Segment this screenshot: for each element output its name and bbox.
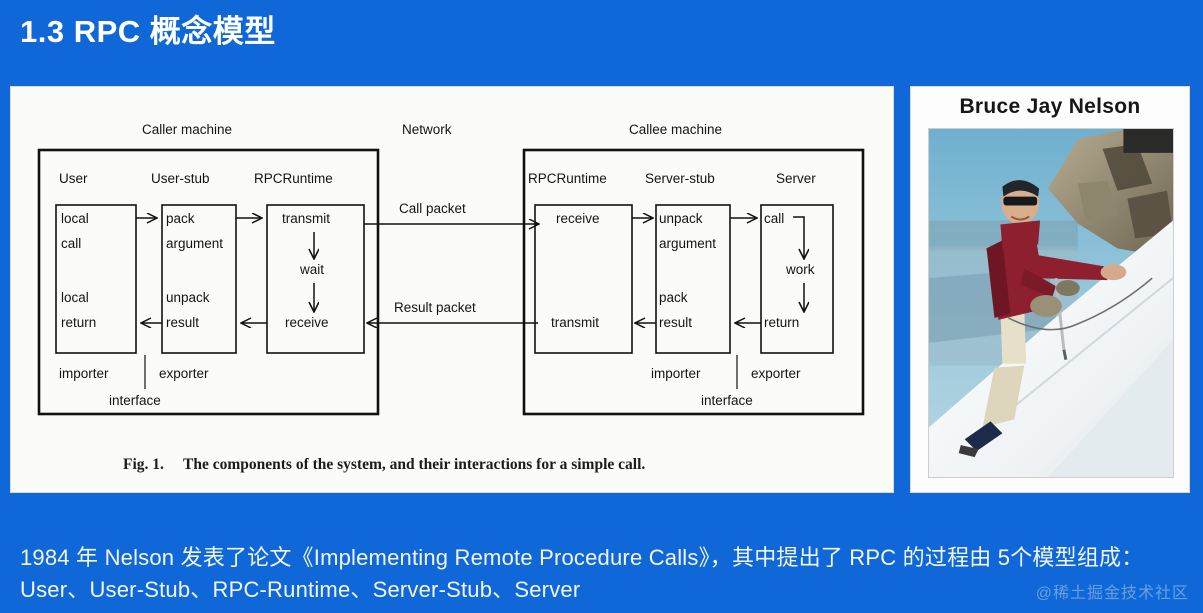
server-work: work (785, 262, 815, 277)
label-result-packet: Result packet (394, 300, 476, 315)
bottom-caption-text: 1984 年 Nelson 发表了论文《Implementing Remote … (20, 542, 1180, 606)
server-stub-pack: pack (659, 290, 688, 305)
label-call-packet: Call packet (399, 201, 466, 216)
photo-climber-hand (1101, 264, 1127, 280)
server-box (761, 205, 833, 353)
photo-rock-small-1 (1030, 295, 1062, 317)
server-stub-box (656, 205, 730, 353)
callee-interface: interface (701, 393, 753, 408)
header-server: Server (776, 171, 816, 186)
label-callee-machine: Callee machine (629, 122, 722, 137)
rpc-architecture-diagram: Caller machine Network Callee machine Us… (11, 87, 893, 492)
photo-rock-small-2 (1056, 280, 1080, 296)
portrait-photo (928, 128, 1174, 478)
user-local-2: local (61, 290, 89, 305)
header-user-stub: User-stub (151, 171, 210, 186)
figure-caption-label: Fig. 1. (123, 456, 164, 473)
arrow-call-to-work (793, 217, 804, 258)
server-stub-unpack: unpack (659, 211, 703, 226)
portrait-panel: Bruce Jay Nelson (910, 86, 1190, 493)
rpcruntime-callee-box (535, 205, 632, 353)
rpc-caller-transmit: transmit (282, 211, 330, 226)
server-stub-argument: argument (659, 236, 716, 251)
header-server-stub: Server-stub (645, 171, 715, 186)
rpc-callee-receive: receive (556, 211, 600, 226)
label-network: Network (402, 122, 452, 137)
rpc-callee-transmit: transmit (551, 315, 599, 330)
rpc-caller-wait: wait (299, 262, 324, 277)
photo-climber-sunglasses (1003, 197, 1037, 206)
header-rpcruntime-caller: RPCRuntime (254, 171, 333, 186)
caller-importer: importer (59, 366, 109, 381)
header-rpcruntime-callee: RPCRuntime (528, 171, 607, 186)
watermark: @稀土掘金技术社区 (1036, 579, 1189, 603)
photo-pole-tip (1064, 350, 1066, 360)
user-stub-result: result (166, 315, 199, 330)
figure-caption-text: The components of the system, and their … (183, 456, 645, 473)
user-stub-box (162, 205, 236, 353)
server-stub-result: result (659, 315, 692, 330)
callee-exporter: exporter (751, 366, 801, 381)
caller-interface: interface (109, 393, 161, 408)
callee-importer: importer (651, 366, 701, 381)
rpcruntime-caller-box (267, 205, 364, 353)
user-box (56, 205, 136, 353)
user-call: call (61, 236, 81, 251)
photo-dark-sky-corner (1123, 129, 1173, 153)
server-call: call (764, 211, 784, 226)
rpc-caller-receive: receive (285, 315, 329, 330)
figure-panel: Caller machine Network Callee machine Us… (10, 86, 894, 493)
photo-climber-collar (1000, 220, 1040, 248)
server-return: return (764, 315, 799, 330)
user-stub-unpack: unpack (166, 290, 210, 305)
header-user: User (59, 171, 88, 186)
user-local: local (61, 211, 89, 226)
caller-exporter: exporter (159, 366, 209, 381)
user-return: return (61, 315, 96, 330)
user-stub-pack: pack (166, 211, 195, 226)
label-caller-machine: Caller machine (142, 122, 232, 137)
user-stub-argument: argument (166, 236, 223, 251)
page-title: 1.3 RPC 概念模型 (20, 6, 276, 51)
portrait-name-label: Bruce Jay Nelson (911, 95, 1189, 119)
